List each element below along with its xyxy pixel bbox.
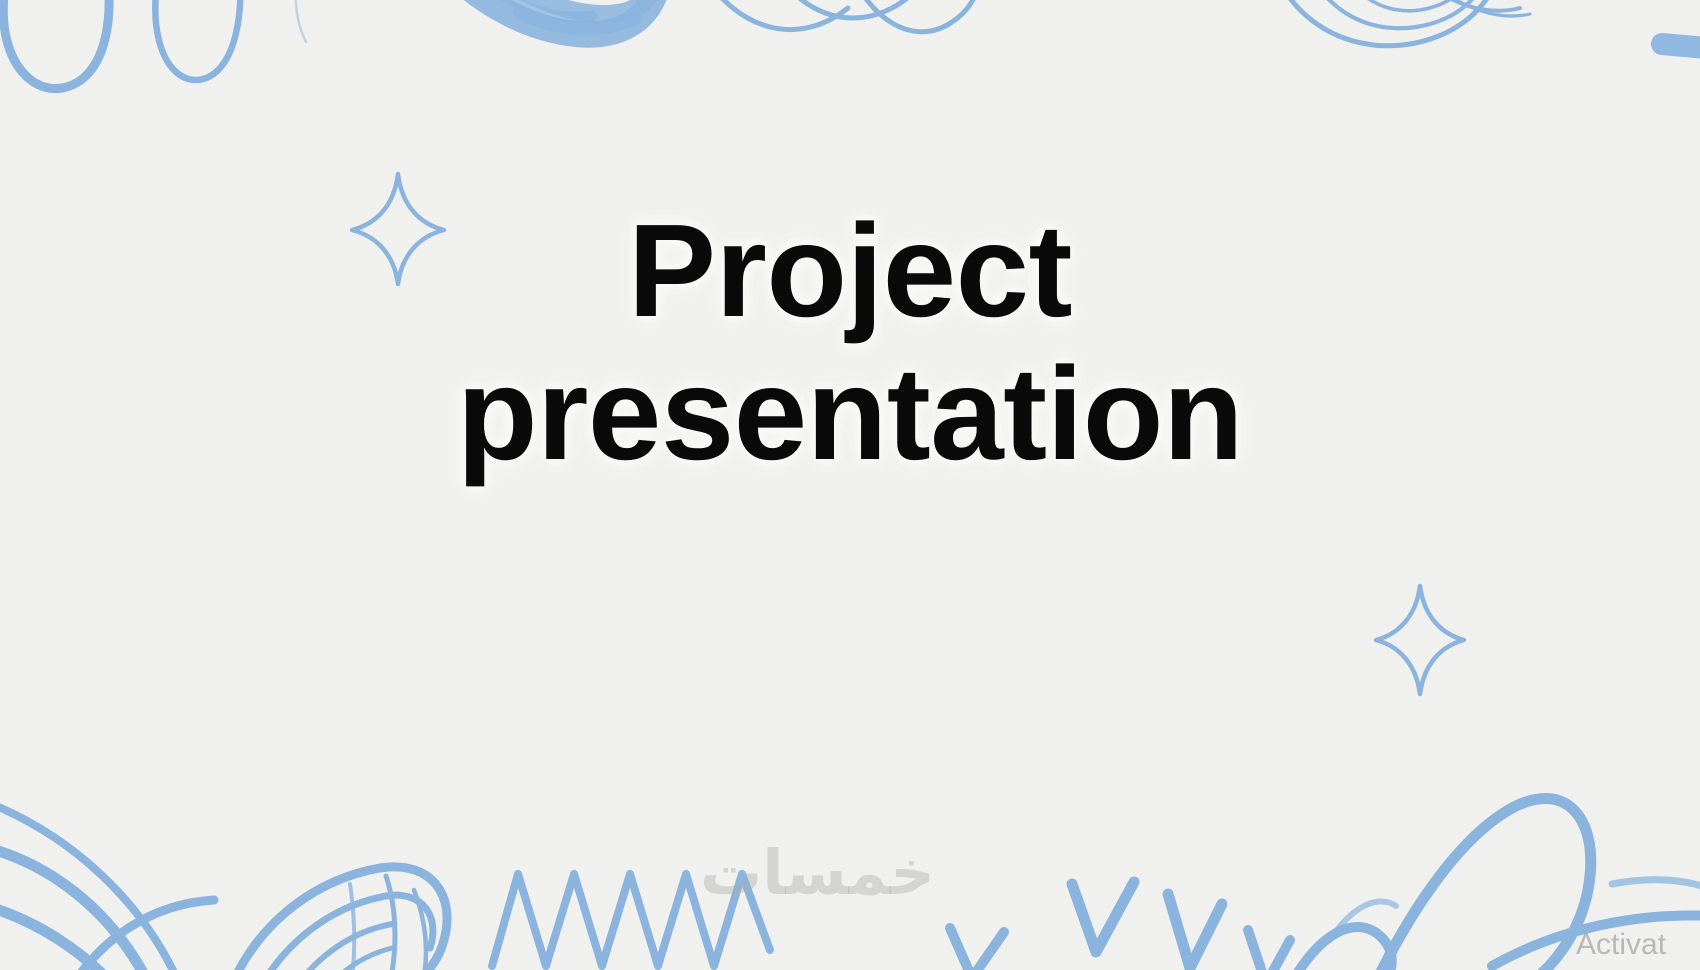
windows-activation-watermark: Activat (1576, 928, 1666, 962)
top-left-loop-scribbles (3, 0, 306, 89)
title-line-two: presentation (0, 349, 1700, 478)
bottom-center-right-v-marks (950, 882, 1290, 970)
bottom-right-trailing-stroke (1612, 880, 1700, 890)
bottom-left-arc-scribbles (0, 796, 214, 970)
top-right-blue-dash (1662, 44, 1700, 48)
sparkle-right-icon (1376, 586, 1464, 694)
top-center-right-arcs (700, 0, 979, 32)
khamsat-watermark: خمسات (700, 836, 935, 909)
bottom-left-center-leaf-scribble (226, 867, 447, 970)
slide-title: Project presentation (0, 206, 1700, 479)
top-center-scribble-blob (430, 0, 662, 35)
presentation-slide: Project presentation خمسات Activat (0, 0, 1700, 970)
title-line-one: Project (0, 206, 1700, 335)
top-right-concentric-arcs (1268, 0, 1530, 46)
